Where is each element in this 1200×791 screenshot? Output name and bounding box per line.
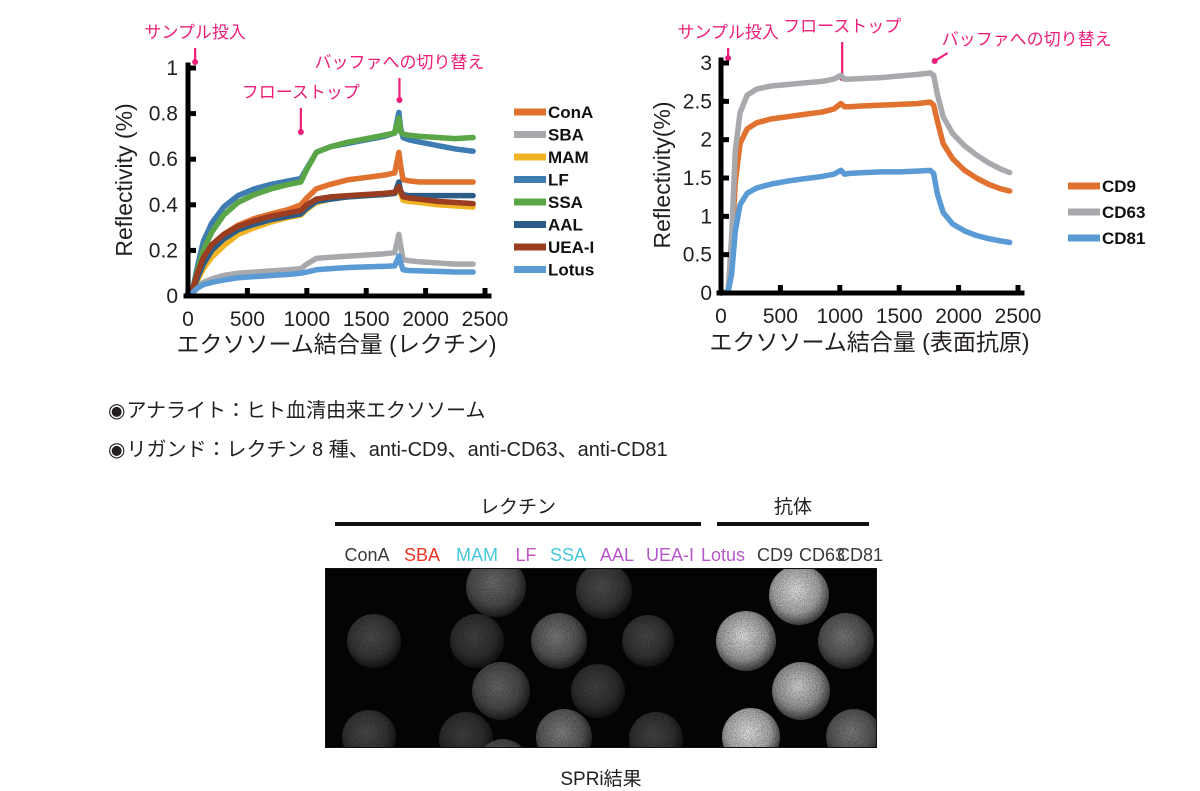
y-tick-label: 2: [700, 129, 712, 152]
annotation-0: サンプル投入: [677, 23, 779, 61]
annotation-1: フローストップ: [242, 83, 360, 135]
x-tick-label: 2500: [995, 305, 1042, 328]
spri-spot: [347, 614, 401, 668]
annotation-arrow-head: [396, 97, 402, 103]
antigen-chart-svg: サンプル投入フローストップバッファへの切り替え00.511.522.530500…: [650, 0, 1200, 370]
spri-column-label-LF: LF: [515, 544, 536, 566]
bullet-icon: ◉: [108, 439, 125, 461]
y-tick-label: 0: [700, 282, 712, 305]
spri-column-label-SSA: SSA: [550, 544, 586, 566]
spri-spot: [472, 662, 530, 720]
y-tick-label: 0.4: [149, 194, 179, 217]
lectin-chart-svg: サンプル投入フローストップバッファへの切り替え00.20.40.60.81050…: [110, 0, 670, 370]
spri-spot: [826, 709, 877, 748]
spri-column-label-SBA: SBA: [404, 544, 440, 566]
spri-group-0: レクチン: [335, 496, 701, 526]
spri-group-1: 抗体: [717, 496, 869, 526]
annotation-arrow-head: [725, 55, 731, 61]
note-line-ligand: ◉リガンド：レクチン 8 種、anti-CD9、anti-CD63、anti-C…: [108, 435, 928, 465]
spri-spot: [622, 615, 674, 667]
x-tick-label: 1500: [343, 308, 390, 331]
x-axis-caption: エクソソーム結合量 (表面抗原): [709, 329, 1029, 355]
annotation-label: サンプル投入: [677, 23, 779, 42]
spri-group-rule: [335, 522, 701, 526]
spri-caption: SPRi結果: [325, 764, 877, 791]
spri-group-label: レクチン: [335, 496, 701, 520]
x-tick-label: 2500: [462, 308, 509, 331]
x-tick-label: 1500: [876, 305, 923, 328]
x-tick-label: 1000: [283, 308, 330, 331]
annotation-arrow-head: [192, 59, 198, 65]
note-analyte-text: アナライト：ヒト血清由来エクソソーム: [126, 400, 485, 422]
spri-spot: [576, 568, 632, 619]
spri-spot: [439, 712, 493, 748]
legend-label-CD9: CD9: [1102, 177, 1136, 196]
legend-label-CD81: CD81: [1102, 229, 1145, 248]
spri-spot: [531, 613, 587, 669]
spri-spot: [629, 712, 683, 748]
antigen-chart: サンプル投入フローストップバッファへの切り替え00.511.522.530500…: [650, 0, 1200, 370]
spri-spot: [716, 611, 776, 671]
y-tick-label: 0: [166, 285, 178, 308]
x-tick-label: 0: [715, 305, 727, 328]
annotation-1: フローストップ: [783, 17, 901, 81]
legend-label-CD63: CD63: [1102, 203, 1145, 222]
y-tick-label: 2.5: [683, 90, 712, 113]
legend-label-SSA: SSA: [548, 193, 583, 212]
y-tick-label: 0.6: [149, 148, 178, 171]
x-tick-label: 1000: [816, 305, 863, 328]
spri-group-rule: [717, 522, 869, 526]
y-tick-label: 0.8: [149, 103, 178, 126]
x-tick-label: 0: [182, 308, 194, 331]
legend-label-AAL: AAL: [548, 216, 583, 235]
spri-column-label-AAL: AAL: [600, 544, 634, 566]
annotation-arrow-head: [298, 129, 304, 135]
x-tick-label: 2000: [935, 305, 982, 328]
spri-column-label-Lotus: Lotus: [701, 544, 745, 566]
y-tick-label: 1.5: [683, 167, 712, 190]
y-tick-label: 1: [166, 57, 178, 80]
spri-column-label-CD9: CD9: [757, 544, 793, 566]
spri-spot: [571, 664, 625, 718]
experiment-notes: ◉アナライト：ヒト血清由来エクソソーム ◉リガンド：レクチン 8 種、anti-…: [108, 396, 928, 474]
annotation-label: バッファへの切り替え: [942, 30, 1112, 49]
annotation-label: フローストップ: [783, 17, 901, 36]
x-tick-label: 500: [230, 308, 265, 331]
annotation-dot: [932, 58, 938, 64]
spri-spot: [342, 710, 396, 748]
legend-label-Lotus: Lotus: [548, 261, 594, 280]
legend-label-UEA-I: UEA-I: [548, 238, 594, 257]
spri-spot: [769, 568, 829, 625]
annotation-0: サンプル投入: [144, 23, 246, 65]
spri-panel: レクチン抗体 ConASBAMAMLFSSAAALUEA-ILotusCD9CD…: [325, 496, 877, 791]
annotation-label: サンプル投入: [144, 23, 246, 42]
spri-column-label-UEA-I: UEA-I: [646, 544, 694, 566]
legend-label-MAM: MAM: [548, 148, 589, 167]
note-line-analyte: ◉アナライト：ヒト血清由来エクソソーム: [108, 396, 928, 426]
spri-spot: [450, 614, 504, 668]
spri-spot: [818, 613, 874, 669]
annotation-label: バッファへの切り替え: [314, 53, 484, 72]
spri-spot: [772, 662, 830, 720]
y-axis-title: Reflectivity(%): [649, 102, 675, 249]
annotation-2: バッファへの切り替え: [932, 30, 1112, 64]
legend-label-LF: LF: [548, 171, 569, 190]
spri-column-label-ConA: ConA: [344, 544, 389, 566]
annotation-label: フローストップ: [242, 83, 360, 102]
legend-label-ConA: ConA: [548, 103, 593, 122]
spri-column-label-CD81: CD81: [837, 544, 883, 566]
spri-group-label: 抗体: [717, 496, 869, 520]
y-tick-label: 3: [700, 52, 712, 75]
series-line-CD9: [721, 102, 1010, 293]
spri-column-label-MAM: MAM: [456, 544, 498, 566]
note-ligand-text: リガンド：レクチン 8 種、anti-CD9、anti-CD63、anti-CD…: [126, 439, 667, 461]
y-tick-label: 1: [700, 205, 712, 228]
legend-label-SBA: SBA: [548, 126, 584, 145]
spri-spots-svg: [326, 569, 876, 747]
bullet-icon: ◉: [108, 400, 125, 422]
lectin-chart: サンプル投入フローストップバッファへの切り替え00.20.40.60.81050…: [110, 0, 670, 370]
spri-spot: [722, 708, 780, 748]
x-axis-caption: エクソソーム結合量 (レクチン): [176, 331, 496, 357]
spri-spot: [536, 709, 592, 748]
x-tick-label: 2000: [402, 308, 449, 331]
spri-spot: [466, 568, 526, 617]
y-tick-label: 0.5: [683, 244, 712, 267]
spri-group-headers: レクチン抗体: [325, 496, 877, 544]
spri-spot-image: [325, 568, 877, 748]
x-tick-label: 500: [763, 305, 798, 328]
y-tick-label: 0.2: [149, 239, 178, 262]
spri-column-labels: ConASBAMAMLFSSAAALUEA-ILotusCD9CD63CD81: [325, 544, 877, 566]
y-axis-title: Reflectivity (%): [111, 103, 137, 256]
series-line-CD81: [721, 170, 1010, 293]
